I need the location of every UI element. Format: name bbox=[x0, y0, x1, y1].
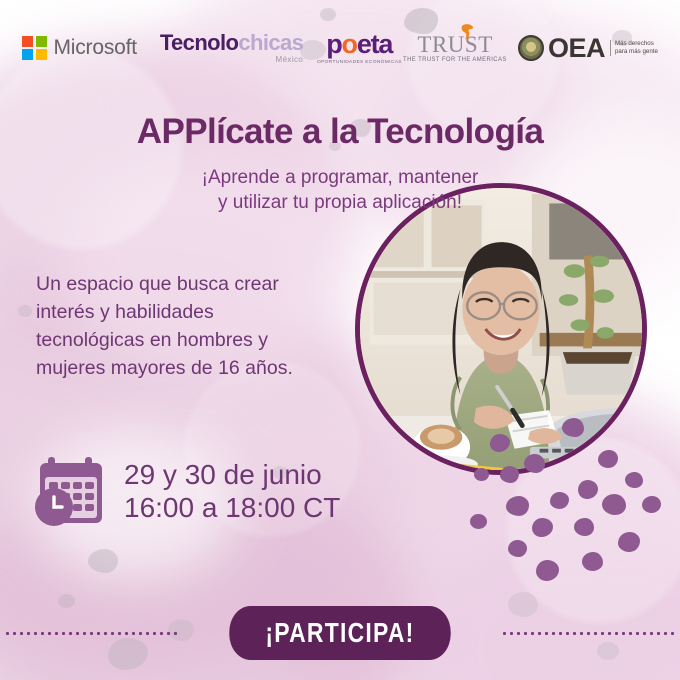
tecnolochicas-part2: chicas bbox=[238, 30, 303, 55]
page-subtitle: ¡Aprende a programar, mantener y utiliza… bbox=[0, 166, 680, 215]
subtitle-line-2: y utilizar tu propia aplicación! bbox=[218, 192, 462, 213]
tecnolochicas-part1: Tecnolo bbox=[160, 30, 239, 55]
poeta-part-a: p bbox=[326, 29, 341, 59]
trust-tagline: THE TRUST FOR THE AMERICAS bbox=[403, 58, 507, 64]
description-text: Un espacio que busca crear interés y hab… bbox=[36, 270, 336, 382]
dotted-divider-right bbox=[501, 632, 676, 635]
tecnolochicas-country: México bbox=[276, 56, 304, 64]
microsoft-squares-icon bbox=[22, 36, 47, 61]
logo-oea: OEA Más derechos para más gente bbox=[518, 33, 658, 64]
poeta-tagline: OPORTUNIDADES ECONÓMICAS bbox=[317, 61, 402, 66]
poeta-part-o: o bbox=[342, 29, 357, 59]
description-line-1: Un espacio que busca crear bbox=[36, 273, 279, 295]
page-title: APPlícate a la Tecnología bbox=[0, 112, 680, 152]
oea-seal-icon bbox=[518, 35, 544, 61]
event-time: 16:00 a 18:00 CT bbox=[124, 492, 340, 523]
dotted-divider-left bbox=[4, 632, 179, 635]
logo-tecnolochicas: Tecnolochicas México bbox=[160, 32, 303, 64]
logo-microsoft: Microsoft bbox=[22, 36, 137, 61]
event-date-block: 29 y 30 de junio 16:00 a 18:00 CT bbox=[32, 455, 340, 529]
description-line-3: tecnológicas en hombres y bbox=[36, 329, 268, 351]
description-line-2: interés y habilidades bbox=[36, 301, 214, 323]
partner-logo-strip: Microsoft Tecnolochicas México poeta OPO… bbox=[0, 0, 680, 96]
call-to-action-footer: ¡PARTICIPA! bbox=[0, 604, 680, 662]
calendar-clock-icon bbox=[32, 455, 110, 529]
description-line-4: mujeres mayores de 16 años. bbox=[36, 357, 293, 379]
decorative-dot-cluster bbox=[470, 418, 680, 608]
participate-button[interactable]: ¡PARTICIPA! bbox=[229, 606, 450, 660]
logo-trust: TRUST THE TRUST FOR THE AMERICAS bbox=[415, 33, 495, 63]
oea-wordmark: OEA bbox=[548, 33, 605, 64]
subtitle-line-1: ¡Aprende a programar, mantener bbox=[202, 167, 479, 188]
poeta-wordmark: poeta bbox=[326, 31, 392, 58]
oea-tagline: Más derechos para más gente bbox=[610, 40, 658, 57]
poeta-part-b: eta bbox=[357, 29, 392, 59]
logo-poeta: poeta OPORTUNIDADES ECONÓMICAS bbox=[326, 31, 392, 65]
promo-poster: Microsoft Tecnolochicas México poeta OPO… bbox=[0, 0, 680, 680]
americas-map-icon bbox=[459, 22, 479, 42]
tecnolochicas-wordmark: Tecnolochicas bbox=[160, 32, 303, 54]
event-datetime-text: 29 y 30 de junio 16:00 a 18:00 CT bbox=[124, 459, 340, 525]
event-date: 29 y 30 de junio bbox=[124, 459, 322, 490]
microsoft-wordmark: Microsoft bbox=[54, 36, 137, 60]
oea-tagline-line1: Más derechos bbox=[615, 40, 654, 47]
oea-tagline-line2: para más gente bbox=[615, 48, 658, 55]
trust-wordmark: TRUST bbox=[417, 33, 492, 56]
